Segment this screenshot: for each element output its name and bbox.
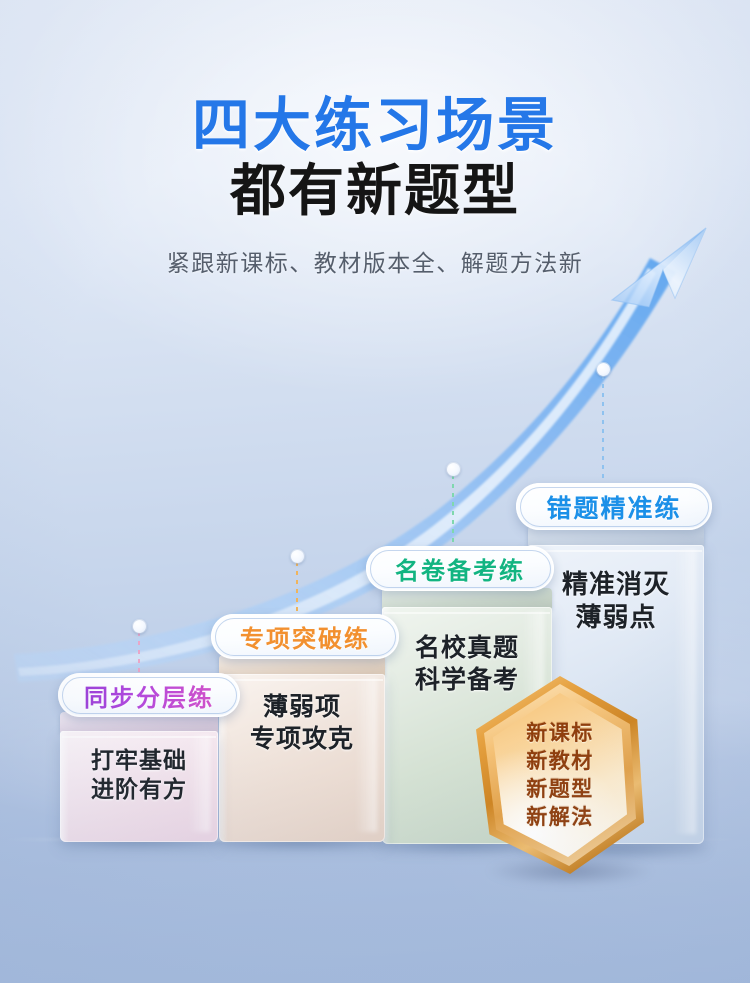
chart-marker-dot [133,620,146,633]
chart-marker-dot [597,363,610,376]
scene-pill-1[interactable]: 同步分层练 [58,673,240,717]
scene-box-2: 薄弱项 专项攻克 [219,655,385,842]
scene-pill-3[interactable]: 名卷备考练 [366,546,554,591]
badge-line-4: 新解法 [476,804,644,832]
scene-pill-label-2: 专项突破练 [240,619,370,654]
chart-marker-dot [291,550,304,563]
box-caption-line-2: 专项攻克 [219,723,385,755]
scene-pill-2[interactable]: 专项突破练 [211,614,399,659]
scene-pill-4[interactable]: 错题精准练 [516,483,712,530]
box-caption: 精准消灭 薄弱点 [528,568,704,635]
gold-hex-badge[interactable]: 新课标 新教材 新题型 新解法 [476,676,644,874]
scene-pill-label-4: 错题精准练 [546,489,681,525]
box-caption-line-1: 薄弱项 [219,691,385,723]
badge-line-3: 新题型 [476,776,644,804]
badge-line-1: 新课标 [476,720,644,748]
box-lid [382,588,552,609]
box-caption-line-1: 精准消灭 [528,568,704,601]
badge-caption: 新课标 新教材 新题型 新解法 [476,720,644,833]
chart-marker-dot [447,463,460,476]
badge-line-2: 新教材 [476,748,644,776]
box-caption: 打牢基础 进阶有方 [60,746,218,805]
scene-box-1: 打牢基础 进阶有方 [60,712,218,842]
box-caption-line-2: 薄弱点 [528,601,704,634]
box-caption-line-2: 进阶有方 [60,775,218,804]
box-caption: 薄弱项 专项攻克 [219,691,385,755]
scene-pill-label-1: 同步分层练 [84,678,214,713]
scene-pill-label-3: 名卷备考练 [395,551,525,586]
box-caption-line-1: 名校真题 [382,632,552,664]
promo-banner: 四大练习场景 都有新题型 紧跟新课标、教材版本全、解题方法新 [0,0,750,983]
box-caption-line-1: 打牢基础 [60,746,218,775]
